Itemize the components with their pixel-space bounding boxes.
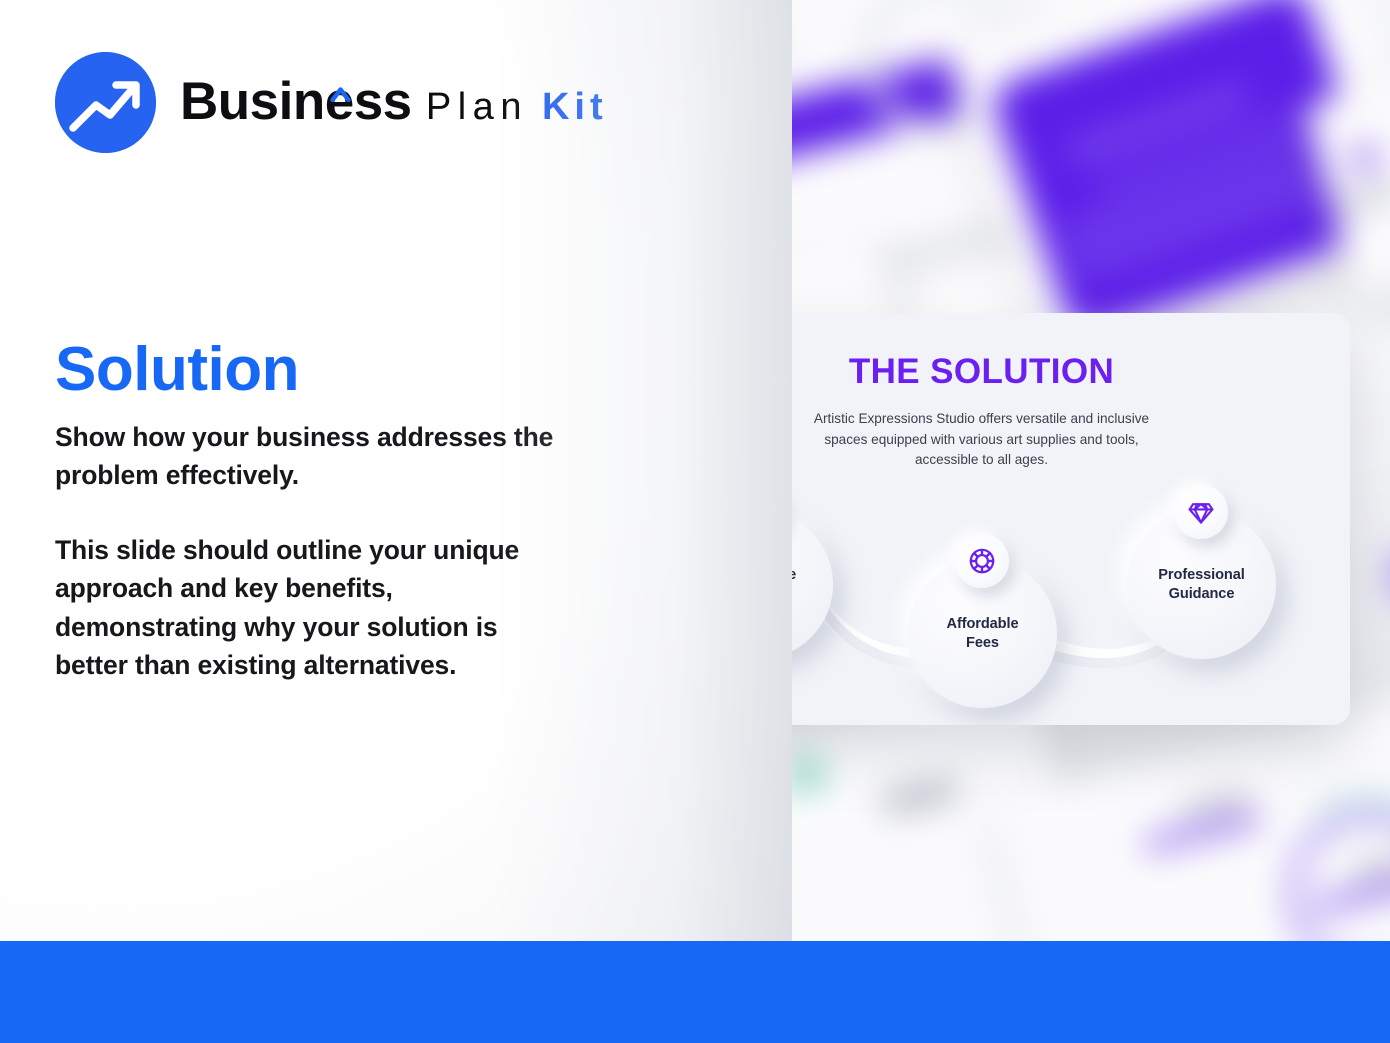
node-label-line2: Fees	[966, 635, 999, 651]
page-title: Solution	[55, 337, 299, 402]
card-subtitle: Artistic Expressions Studio offers versa…	[807, 409, 1157, 471]
node-label-line1: Professional	[1158, 567, 1244, 583]
brand-logo: Business PlanKit	[55, 52, 608, 153]
lifebuoy-icon	[955, 534, 1009, 588]
body-copy: Show how your business addresses the pro…	[55, 418, 575, 684]
brand-wordmark: Business PlanKit	[180, 76, 608, 130]
node-label: Professional Guidance	[1158, 566, 1244, 603]
left-content-panel: Business PlanKit Solution Show how your …	[0, 0, 792, 941]
growth-chart-arrow-icon	[55, 52, 156, 153]
right-preview-panel: THE SOLUTION Artistic Expressions Studio…	[792, 0, 1390, 941]
chevron-up-accent-icon	[330, 59, 351, 75]
diamond-icon	[1174, 485, 1228, 539]
brand-name-business: Business	[180, 72, 412, 131]
node-label-line1: Affordable	[947, 616, 1019, 632]
body-paragraph-2: This slide should outline your unique ap…	[55, 531, 575, 684]
solution-card: THE SOLUTION Artistic Expressions Studio…	[792, 313, 1350, 725]
footer-accent-bar	[0, 941, 1390, 1043]
brand-name-plan: Plan	[426, 86, 528, 128]
brand-name-line1: Business	[180, 72, 426, 131]
brand-name-line2: PlanKit	[426, 86, 608, 128]
node-label-line2: Guidance	[1169, 586, 1235, 602]
body-paragraph-1: Show how your business addresses the pro…	[55, 418, 575, 494]
card-title: THE SOLUTION	[792, 354, 1350, 389]
node-label: Accessible Spaces	[792, 566, 796, 603]
brand-name-kit: Kit	[542, 86, 608, 128]
slide-canvas: Business PlanKit Solution Show how your …	[0, 0, 1390, 1043]
node-label-line1: Accessible	[792, 567, 796, 583]
solution-node-accessible-spaces[interactable]: Accessible Spaces	[792, 510, 833, 659]
node-label: Affordable Fees	[947, 615, 1019, 652]
